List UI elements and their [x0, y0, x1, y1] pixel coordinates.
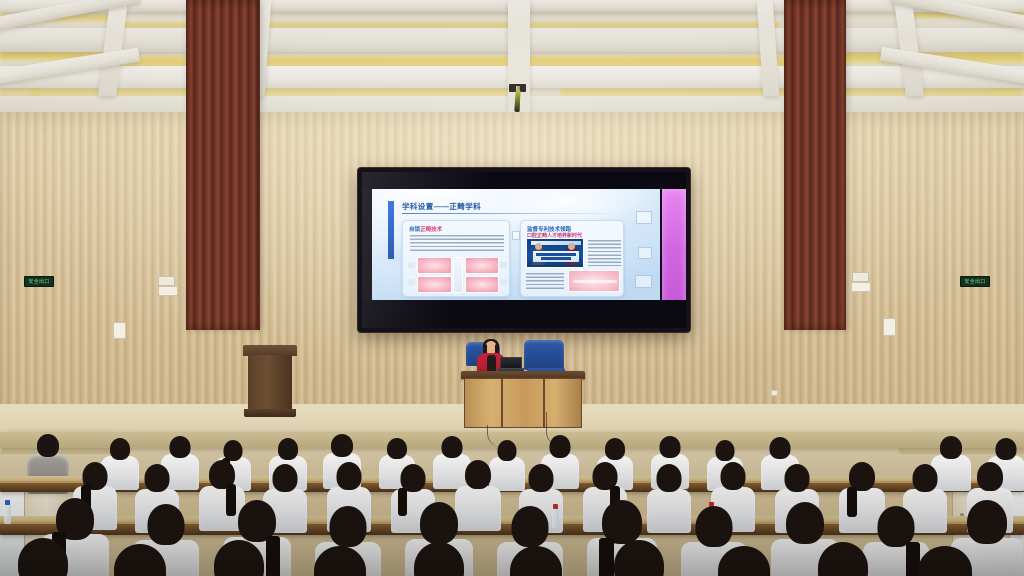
person-head	[148, 504, 185, 545]
person-head	[657, 464, 682, 492]
audience-person	[700, 546, 788, 576]
slide-card-right-bullets	[588, 240, 621, 266]
person-head	[605, 438, 625, 460]
slide-card-right: 监督专利技术领跑 口腔正畸人才培养新时代	[520, 220, 624, 297]
person-head	[512, 506, 549, 547]
person-head	[716, 440, 735, 461]
screen-letterbox-bottom	[362, 300, 686, 328]
teeth-photo	[417, 276, 452, 293]
tv-banner-text-line-1	[536, 253, 576, 256]
person-head	[330, 506, 367, 547]
exit-sign-text: 安全出口	[964, 278, 985, 285]
person-head	[442, 436, 463, 458]
power-outlet-right[interactable]	[771, 390, 778, 396]
teeth-caption-bl	[408, 279, 415, 285]
person-head	[114, 544, 166, 576]
exit-sign-left: 安全出口	[24, 276, 54, 287]
audience-person	[492, 546, 580, 576]
person-head	[414, 542, 464, 576]
slide-side-icon-1	[636, 211, 652, 224]
person-head	[696, 506, 733, 547]
person-head	[977, 462, 1003, 491]
wall-plate-right-low	[883, 318, 896, 336]
teeth-caption-tl	[408, 262, 415, 268]
lectern-body	[248, 355, 292, 411]
slide-center-icon	[512, 231, 520, 240]
audience-person	[596, 540, 682, 576]
teeth-photo	[417, 257, 452, 274]
tv-banner-text-line-2	[541, 257, 571, 260]
person-head	[770, 437, 791, 459]
person-head	[18, 538, 68, 576]
slide-title: 学科设置——正畸学科	[402, 201, 481, 212]
person-head	[529, 464, 554, 492]
audience-person	[900, 546, 990, 576]
person-head	[614, 540, 664, 576]
slide-card-right-paragraph	[526, 273, 564, 290]
person-head	[498, 440, 517, 461]
person-head	[785, 464, 810, 492]
lecture-hall-photo: 安全出口 安全出口 学科设置——正畸学科 自锁正畸技术	[0, 0, 1024, 576]
wall-plate-left-low	[113, 322, 126, 339]
teeth-photo	[465, 257, 500, 274]
person-head	[918, 546, 972, 576]
screen-magenta-band	[662, 189, 686, 308]
audience-person	[0, 538, 86, 576]
person-head	[967, 500, 1007, 544]
teeth-photo	[465, 276, 500, 293]
chair-backrest	[524, 340, 564, 370]
person-head	[337, 462, 362, 490]
person-head	[786, 502, 824, 544]
person-head	[170, 436, 191, 458]
teeth-caption-tr	[500, 262, 507, 268]
audience-person	[396, 542, 482, 576]
seated-audience	[0, 420, 1024, 576]
light-switch-left[interactable]	[158, 276, 175, 286]
teeth-divider	[453, 257, 463, 293]
person-head	[214, 540, 264, 576]
audience-person	[800, 542, 886, 576]
person-head	[996, 438, 1017, 460]
wall-plate-right	[851, 282, 871, 292]
wall-plate-left	[158, 286, 178, 296]
coffered-ceiling	[0, 0, 1024, 118]
person-head	[145, 464, 170, 492]
person-head	[718, 546, 770, 576]
slide-side-icon-2	[638, 247, 652, 259]
screen-letterbox-top	[362, 172, 686, 189]
person-head	[818, 542, 868, 576]
person-head	[660, 436, 681, 458]
person-head	[420, 502, 458, 544]
slide-card-left-paragraph	[410, 235, 504, 253]
tv-lower-third-banner	[533, 251, 579, 262]
person-head	[278, 438, 298, 460]
slide-card-left: 自锁正畸技术	[402, 220, 510, 297]
exit-sign-text: 安全出口	[28, 278, 49, 285]
slide-side-icon-3	[635, 275, 652, 288]
presentation-screen[interactable]: 学科设置——正畸学科 自锁正畸技术	[358, 168, 690, 332]
person-head	[878, 506, 915, 547]
tv-interview-photo	[526, 238, 584, 268]
accent-column-left	[186, 0, 260, 330]
audience-person	[196, 540, 282, 576]
ponytail	[847, 487, 857, 517]
wooden-lectern[interactable]	[243, 345, 297, 417]
light-switch-right[interactable]	[852, 272, 869, 282]
heading-accent: 正畸技术	[420, 227, 442, 233]
person-head	[110, 438, 130, 460]
slide-title-underline	[402, 213, 618, 214]
teeth-image-grid	[417, 257, 499, 293]
person-head	[37, 434, 59, 457]
lectern-base	[244, 409, 296, 417]
person-head	[314, 546, 366, 576]
tv-person-head-right	[568, 243, 575, 250]
person-head	[387, 438, 407, 459]
accent-column-right	[784, 0, 846, 330]
water-bottle[interactable]	[4, 504, 11, 524]
person-head	[721, 462, 746, 490]
slide-content: 学科设置——正畸学科 自锁正畸技术	[372, 189, 660, 308]
person-head	[273, 464, 298, 492]
audience-person	[296, 546, 384, 576]
person-head	[940, 436, 962, 459]
dental-arch-illustration	[568, 270, 620, 292]
person-head	[510, 546, 562, 576]
person-head	[465, 460, 491, 489]
person-head	[331, 434, 353, 457]
person-head	[913, 464, 938, 492]
teeth-caption-br	[500, 279, 507, 285]
person-head	[550, 435, 571, 458]
heading-prefix: 自锁	[409, 227, 420, 233]
tv-person-head-left	[535, 243, 542, 250]
slide-card-left-heading: 自锁正畸技术	[409, 225, 442, 233]
exit-sign-right: 安全出口	[960, 276, 990, 287]
audience-person	[96, 544, 184, 576]
slide-title-accent-bar	[388, 201, 394, 259]
